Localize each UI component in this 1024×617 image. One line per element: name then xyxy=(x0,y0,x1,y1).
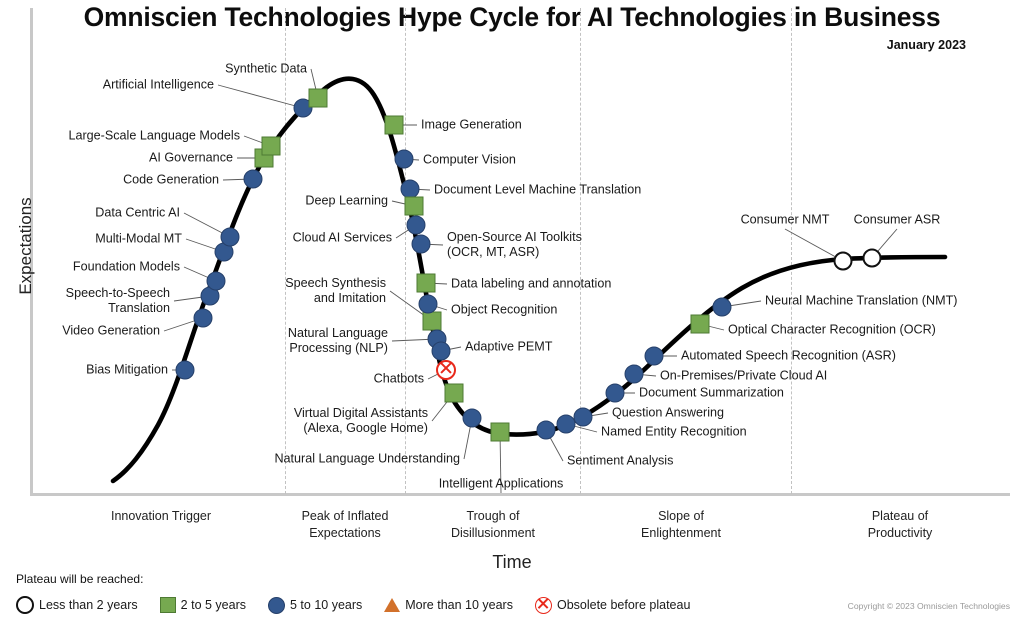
data-point-label: Video Generation xyxy=(62,324,160,339)
data-point-label: Synthetic Data xyxy=(225,62,307,77)
data-point-label: Open-Source AI Toolkits (OCR, MT, ASR) xyxy=(447,230,582,260)
data-point-label: On-Premises/Private Cloud AI xyxy=(660,369,827,384)
green-square-marker-icon[interactable] xyxy=(262,137,281,156)
data-point-label: Question Answering xyxy=(612,406,724,421)
data-point-label: Chatbots xyxy=(374,372,424,387)
legend-item-3[interactable]: 5 to 10 years xyxy=(268,597,362,614)
data-point-label: Data labeling and annotation xyxy=(451,277,611,292)
data-point-label: Speech-to-Speech Translation xyxy=(66,286,170,316)
data-point-label: Data Centric AI xyxy=(95,206,180,221)
copyright-notice: Copyright © 2023 Omniscien Technologies xyxy=(848,601,1010,611)
obsolete-cross-icon xyxy=(535,597,552,614)
blue-circle-marker-icon[interactable] xyxy=(537,421,556,440)
data-point-label: Consumer ASR xyxy=(854,213,941,228)
data-point-label: Natural Language Processing (NLP) xyxy=(288,326,388,356)
data-point-label: Multi-Modal MT xyxy=(95,232,182,247)
data-point-label: Document Summarization xyxy=(639,386,784,401)
data-point-label: Named Entity Recognition xyxy=(601,425,747,440)
orange-triangle-icon xyxy=(384,598,400,612)
blue-circle-marker-icon[interactable] xyxy=(574,408,593,427)
green-square-marker-icon[interactable] xyxy=(691,315,710,334)
blue-circle-marker-icon[interactable] xyxy=(407,216,426,235)
data-point-label: Image Generation xyxy=(421,118,522,133)
blue-circle-icon xyxy=(268,597,285,614)
data-point-label: Automated Speech Recognition (ASR) xyxy=(681,349,896,364)
data-point-label: Bias Mitigation xyxy=(86,363,168,378)
green-square-marker-icon[interactable] xyxy=(445,384,464,403)
legend: Less than 2 years2 to 5 years5 to 10 yea… xyxy=(16,596,712,614)
data-point-label: Cloud AI Services xyxy=(293,231,392,246)
data-point-label: Speech Synthesis and Imitation xyxy=(285,276,386,306)
blue-circle-marker-icon[interactable] xyxy=(176,361,195,380)
data-point-label: Consumer NMT xyxy=(741,213,830,228)
blue-circle-marker-icon[interactable] xyxy=(645,347,664,366)
legend-item-1[interactable]: Less than 2 years xyxy=(16,596,138,614)
data-point-label: Neural Machine Translation (NMT) xyxy=(765,294,957,309)
open-circle-icon xyxy=(16,596,34,614)
data-point-label: Sentiment Analysis xyxy=(567,454,673,469)
legend-item-label: Obsolete before plateau xyxy=(557,598,690,612)
blue-circle-marker-icon[interactable] xyxy=(221,228,240,247)
legend-heading: Plateau will be reached: xyxy=(16,572,143,586)
data-point-label: Code Generation xyxy=(123,173,219,188)
blue-circle-marker-icon[interactable] xyxy=(412,235,431,254)
blue-circle-marker-icon[interactable] xyxy=(463,409,482,428)
data-point-label: Adaptive PEMT xyxy=(465,340,553,355)
legend-item-4[interactable]: More than 10 years xyxy=(384,598,513,612)
data-point-label: Deep Learning xyxy=(305,194,388,209)
legend-item-label: More than 10 years xyxy=(405,598,513,612)
data-point-label: Natural Language Understanding xyxy=(274,452,460,467)
data-point-label: Artificial Intelligence xyxy=(103,78,214,93)
blue-circle-marker-icon[interactable] xyxy=(606,384,625,403)
data-point-label: Optical Character Recognition (OCR) xyxy=(728,323,936,338)
blue-circle-marker-icon[interactable] xyxy=(713,298,732,317)
green-square-marker-icon[interactable] xyxy=(417,274,436,293)
legend-item-label: 5 to 10 years xyxy=(290,598,362,612)
blue-circle-marker-icon[interactable] xyxy=(244,170,263,189)
legend-item-5[interactable]: Obsolete before plateau xyxy=(535,597,690,614)
green-square-marker-icon[interactable] xyxy=(423,312,442,331)
data-point-label: Document Level Machine Translation xyxy=(434,183,641,198)
open-circle-marker-icon[interactable] xyxy=(863,249,882,268)
blue-circle-marker-icon[interactable] xyxy=(395,150,414,169)
blue-circle-marker-icon[interactable] xyxy=(194,309,213,328)
data-point-label: Large-Scale Language Models xyxy=(68,129,240,144)
green-square-marker-icon[interactable] xyxy=(491,423,510,442)
data-point-label: AI Governance xyxy=(149,151,233,166)
data-point-label: Computer Vision xyxy=(423,153,516,168)
blue-circle-marker-icon[interactable] xyxy=(419,295,438,314)
green-square-marker-icon[interactable] xyxy=(385,116,404,135)
data-point-label: Intelligent Applications xyxy=(439,477,564,492)
legend-item-label: 2 to 5 years xyxy=(181,598,246,612)
green-square-marker-icon[interactable] xyxy=(309,89,328,108)
data-point-label: Virtual Digital Assistants (Alexa, Googl… xyxy=(294,406,428,436)
open-circle-marker-icon[interactable] xyxy=(834,252,853,271)
green-square-marker-icon[interactable] xyxy=(405,197,424,216)
blue-circle-marker-icon[interactable] xyxy=(625,365,644,384)
blue-circle-marker-icon[interactable] xyxy=(207,272,226,291)
data-point-label: Object Recognition xyxy=(451,303,557,318)
blue-circle-marker-icon[interactable] xyxy=(432,342,451,361)
obsolete-cross-marker-icon[interactable] xyxy=(436,360,456,380)
green-square-icon xyxy=(160,597,176,613)
hype-cycle-chart: Omniscien Technologies Hype Cycle for AI… xyxy=(0,0,1024,617)
legend-item-2[interactable]: 2 to 5 years xyxy=(160,597,246,613)
data-point-label: Foundation Models xyxy=(73,260,180,275)
legend-item-label: Less than 2 years xyxy=(39,598,138,612)
